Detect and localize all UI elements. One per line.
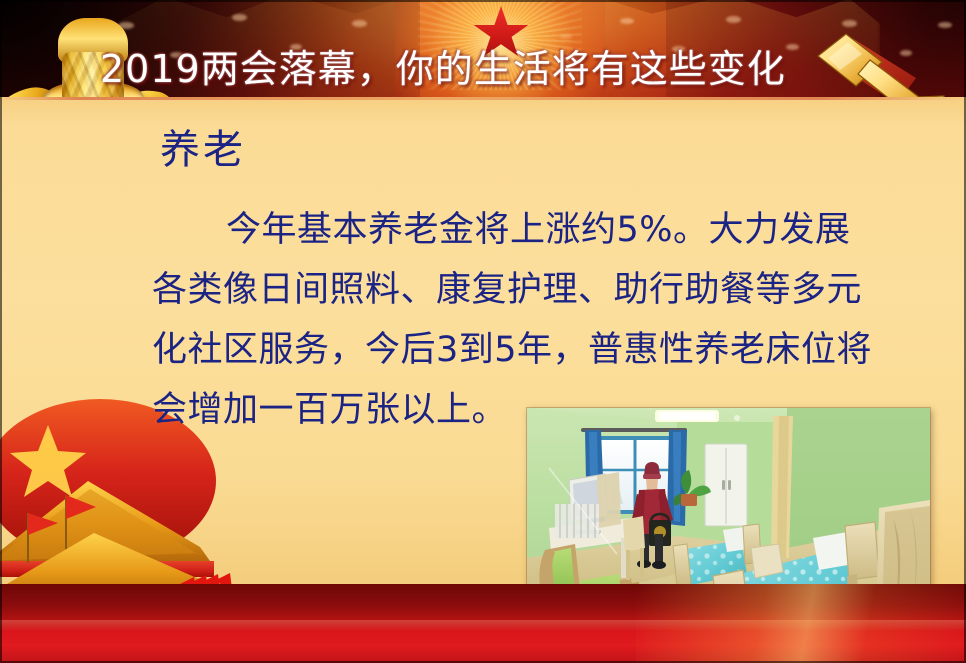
page-title: 2019两会落幕，你的生活将有这些变化 xyxy=(100,45,820,93)
body-line-1: 今年基本养老金将上涨约5%。大力发展 xyxy=(152,200,922,260)
body-paragraph: 今年基本养老金将上涨约5%。大力发展 各类像日间照料、康复护理、助行助餐等多元 … xyxy=(152,200,922,440)
bottom-red-band xyxy=(0,584,966,663)
section-heading: 养老 xyxy=(160,126,246,174)
body-line-2: 各类像日间照料、康复护理、助行助餐等多元 xyxy=(152,260,922,320)
presentation-slide: 2019两会落幕，你的生活将有这些变化 xyxy=(0,0,966,663)
body-line-3: 化社区服务，今后3到5年，普惠性养老床位将 xyxy=(152,320,922,380)
